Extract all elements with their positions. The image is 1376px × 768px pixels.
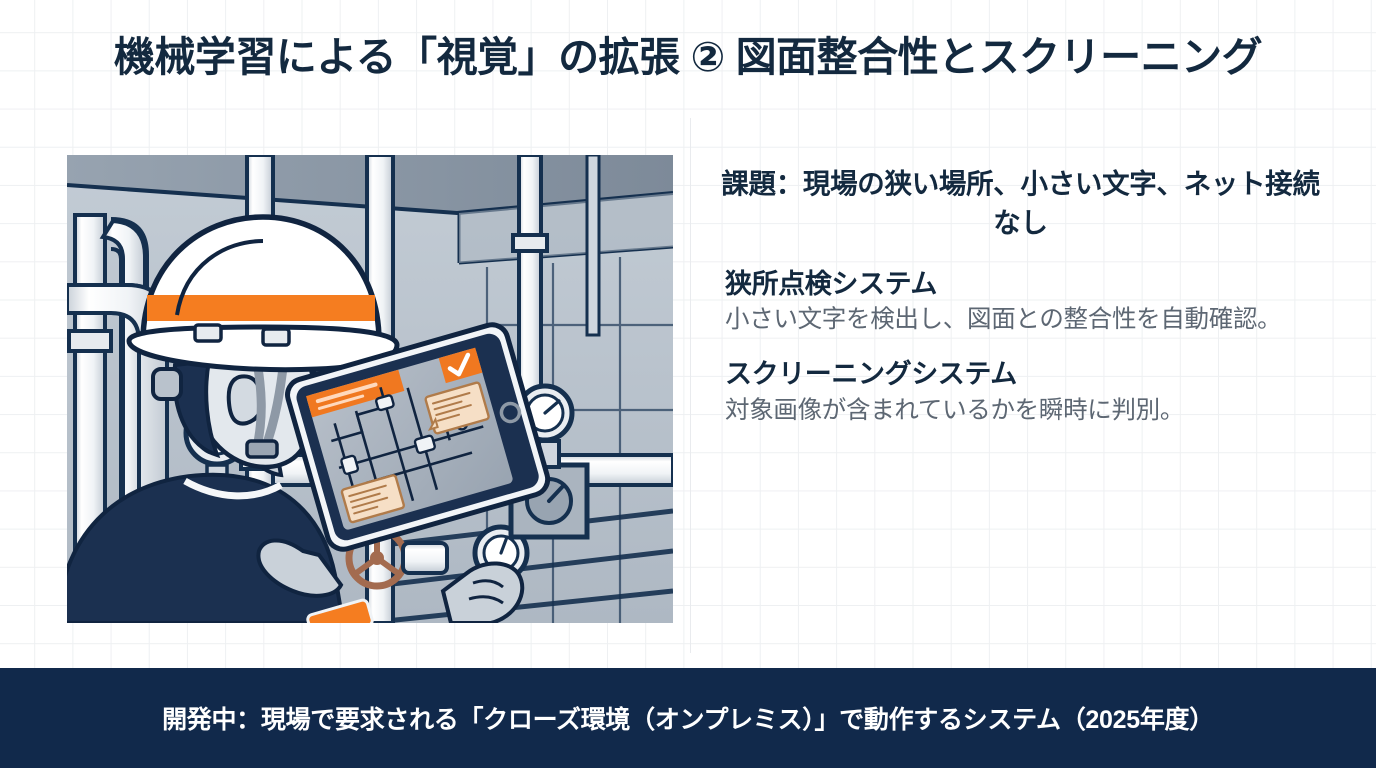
section-heading: 狭所点検システム: [725, 268, 1328, 300]
inspection-illustration: [67, 155, 673, 623]
illustration-svg: [67, 155, 673, 623]
footer-bar: 開発中：現場で要求される「クローズ環境（オンプレミス）」で動作するシステム（20…: [0, 668, 1376, 768]
feature-section-screening: スクリーニングシステム 対象画像が含まれているかを瞬時に判別。: [713, 358, 1328, 426]
feature-section-narrow-space-inspection: 狭所点検システム 小さい文字を検出し、図面との整合性を自動確認。: [713, 268, 1328, 336]
section-heading: スクリーニングシステム: [725, 358, 1328, 390]
page-title: 機械学習による「視覚」の拡張 ② 図面整合性とスクリーニング: [0, 34, 1376, 81]
section-body: 小さい文字を検出し、図面との整合性を自動確認。: [725, 304, 1317, 336]
challenge-statement: 課題：現場の狭い場所、小さい文字、ネット接続なし: [713, 155, 1328, 242]
text-column: 課題：現場の狭い場所、小さい文字、ネット接続なし 狭所点検システム 小さい文字を…: [713, 155, 1328, 625]
section-body: 対象画像が含まれているかを瞬時に判別。: [725, 395, 1317, 427]
slide-root: 機械学習による「視覚」の拡張 ② 図面整合性とスクリーニング: [0, 0, 1376, 768]
column-divider: [690, 118, 691, 653]
footer-text: 開発中：現場で要求される「クローズ環境（オンプレミス）」で動作するシステム（20…: [162, 700, 1214, 736]
